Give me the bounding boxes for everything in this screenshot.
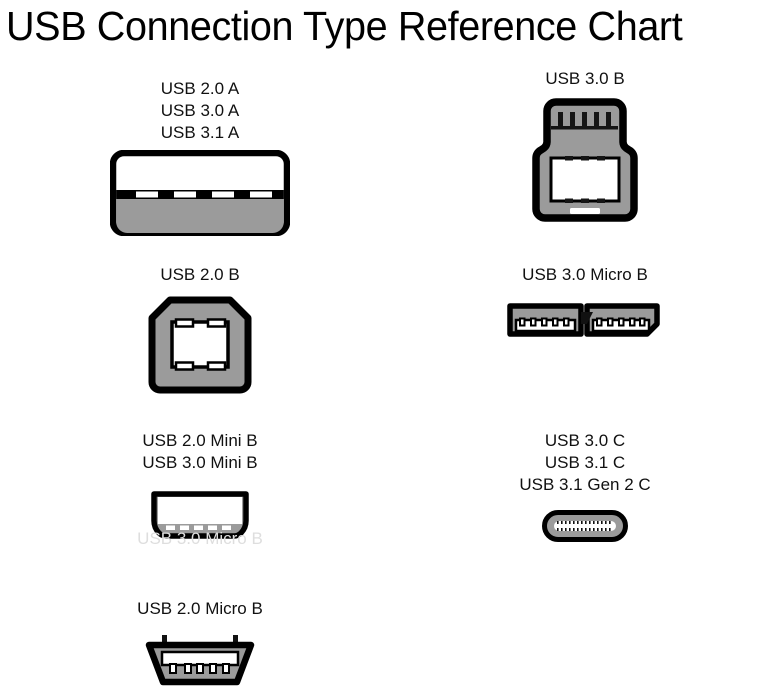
connector-usb-type-c-art xyxy=(440,510,730,542)
label-usb-2-0-b: USB 2.0 B xyxy=(58,264,342,286)
connector-usb-2-0-micro-b: USB 2.0 Micro B xyxy=(58,598,342,688)
connector-usb-2-0-micro-b-art xyxy=(58,632,342,688)
connector-usb-3-0-b: USB 3.0 B xyxy=(440,68,730,224)
connector-usb-mini-b-art: USB 3.0 Micro B xyxy=(58,490,342,550)
connector-usb-3-0-micro-b: USB 3.0 Micro B xyxy=(440,264,730,340)
label-usb-2-0-mini-b: USB 2.0 Mini B xyxy=(58,430,342,452)
connector-usb-3-0-b-labels: USB 3.0 B xyxy=(440,68,730,90)
label-usb-3-0-mini-b: USB 3.0 Mini B xyxy=(58,452,342,474)
connector-usb-mini-b-labels: USB 2.0 Mini B USB 3.0 Mini B xyxy=(58,430,342,474)
label-usb-3-1-a: USB 3.1 A xyxy=(58,122,342,144)
connector-usb-2-0-micro-b-labels: USB 2.0 Micro B xyxy=(58,598,342,620)
label-usb-2-0-a: USB 2.0 A xyxy=(58,78,342,100)
usb-3-0-micro-b-icon xyxy=(507,300,663,340)
connector-usb-type-a: USB 2.0 A USB 3.0 A USB 3.1 A xyxy=(58,78,342,236)
label-usb-2-0-micro-b: USB 2.0 Micro B xyxy=(58,598,342,620)
connector-usb-2-0-b-art xyxy=(58,296,342,394)
usb-type-c-icon xyxy=(542,510,628,542)
label-usb-3-0-b: USB 3.0 B xyxy=(440,68,730,90)
connector-usb-3-0-b-art xyxy=(440,98,730,224)
usb-3-0-b-icon xyxy=(532,98,638,224)
label-usb-3-0-c: USB 3.0 C xyxy=(440,430,730,452)
usb-2-0-micro-b-icon xyxy=(137,632,263,688)
connector-usb-type-a-labels: USB 2.0 A USB 3.0 A USB 3.1 A xyxy=(58,78,342,144)
label-usb-3-1-gen-2-c: USB 3.1 Gen 2 C xyxy=(440,474,730,496)
connector-usb-type-c: USB 3.0 C USB 3.1 C USB 3.1 Gen 2 C xyxy=(440,430,730,542)
usb-reference-chart: USB Connection Type Reference Chart USB … xyxy=(0,0,764,692)
connector-usb-2-0-b-labels: USB 2.0 B xyxy=(58,264,342,286)
connector-usb-2-0-b: USB 2.0 B xyxy=(58,264,342,394)
usb-2-0-b-icon xyxy=(148,296,252,394)
connector-usb-3-0-micro-b-labels: USB 3.0 Micro B xyxy=(440,264,730,286)
connector-usb-3-0-micro-b-art xyxy=(440,300,730,340)
connector-usb-mini-b: USB 2.0 Mini B USB 3.0 Mini B USB 3.0 Mi… xyxy=(58,430,342,550)
label-usb-3-0-micro-b: USB 3.0 Micro B xyxy=(440,264,730,286)
connector-usb-type-c-labels: USB 3.0 C USB 3.1 C USB 3.1 Gen 2 C xyxy=(440,430,730,496)
connector-usb-type-a-art xyxy=(58,150,342,236)
usb-type-a-icon xyxy=(110,150,290,236)
ghost-artifact-text: USB 3.0 Micro B xyxy=(58,528,342,550)
label-usb-3-1-c: USB 3.1 C xyxy=(440,452,730,474)
page-title: USB Connection Type Reference Chart xyxy=(6,2,736,50)
label-usb-3-0-a: USB 3.0 A xyxy=(58,100,342,122)
